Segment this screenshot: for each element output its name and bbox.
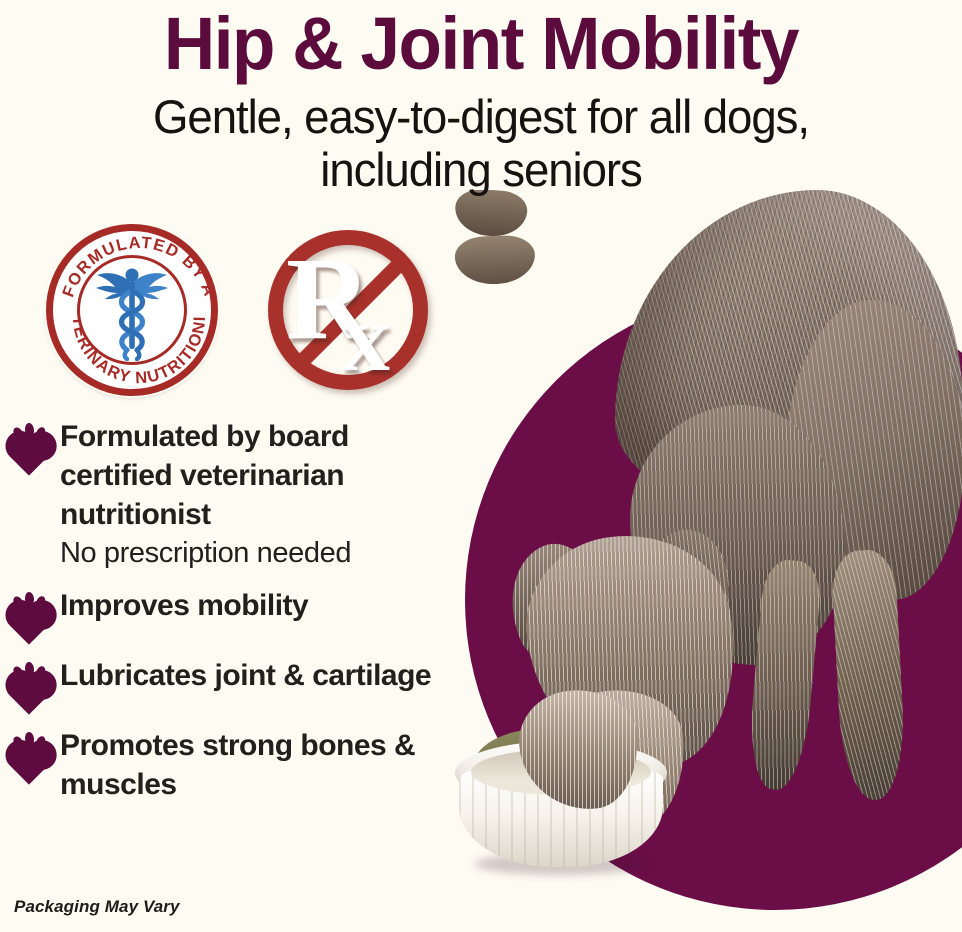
caduceus-icon bbox=[91, 261, 173, 361]
list-item-sub-text: No prescription needed bbox=[60, 534, 458, 572]
list-item-text: Formulated by board certified veterinari… bbox=[60, 415, 458, 572]
list-item-main-text: Improves mobility bbox=[60, 586, 458, 625]
list-item: Lubricates joint & cartilage bbox=[8, 654, 458, 712]
no-prescription-badge: R x bbox=[266, 226, 434, 398]
list-item-text: Improves mobility bbox=[60, 584, 458, 625]
page-title: Hip & Joint Mobility bbox=[19, 0, 943, 84]
list-item-text: Promotes strong bones & muscles bbox=[60, 724, 458, 804]
list-item-main-text: Lubricates joint & cartilage bbox=[60, 656, 458, 695]
list-item-main-text: Formulated by board certified veterinari… bbox=[60, 417, 458, 534]
paw-heart-icon bbox=[8, 425, 52, 473]
paw-heart-icon bbox=[8, 594, 52, 642]
paw-heart-icon bbox=[8, 734, 52, 782]
list-item-text: Lubricates joint & cartilage bbox=[60, 654, 458, 695]
header-block: Hip & Joint Mobility Gentle, easy-to-dig… bbox=[0, 0, 962, 196]
dog-front-leg-right bbox=[831, 548, 908, 801]
paw-heart-icon bbox=[8, 664, 52, 712]
dog-paw-left bbox=[455, 190, 529, 238]
dog-paw-right bbox=[455, 235, 536, 286]
subtitle: Gentle, easy-to-digest for all dogs, inc… bbox=[14, 84, 947, 196]
subtitle-line-1: Gentle, easy-to-digest for all dogs, bbox=[14, 90, 947, 143]
rx-letters: R x bbox=[286, 240, 418, 388]
product-feature-infographic: Hip & Joint Mobility Gentle, easy-to-dig… bbox=[0, 0, 962, 932]
list-item: Formulated by board certified veterinari… bbox=[8, 415, 458, 572]
rx-letter-x: x bbox=[342, 290, 390, 386]
packaging-disclaimer: Packaging May Vary bbox=[14, 897, 180, 917]
subtitle-line-2: including seniors bbox=[14, 143, 947, 196]
list-item-main-text: Promotes strong bones & muscles bbox=[60, 726, 458, 804]
list-item: Improves mobility bbox=[8, 584, 458, 642]
list-item: Promotes strong bones & muscles bbox=[8, 724, 458, 804]
formulated-by-vet-nutritionist-seal: FORMULATED BY A VETERINARY NUTRITIONIST bbox=[46, 224, 218, 396]
benefits-list: Formulated by board certified veterinari… bbox=[8, 415, 458, 816]
